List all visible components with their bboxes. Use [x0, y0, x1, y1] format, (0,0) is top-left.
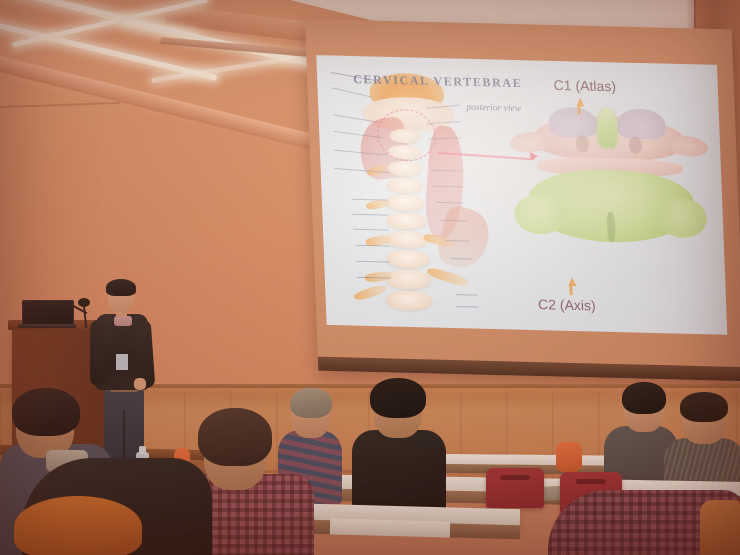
list-item — [352, 378, 446, 506]
laptop-base — [18, 324, 76, 328]
presenter-hair — [106, 279, 136, 296]
attendee-black-top-hair — [370, 378, 426, 418]
paper-on-desk — [330, 518, 450, 537]
presenter-badge — [116, 354, 128, 370]
attendee-hoodie-hair — [622, 382, 666, 414]
water-bottle-cap — [139, 446, 146, 454]
projector-glow — [316, 55, 727, 335]
chair-handle-slot — [500, 475, 530, 480]
projection-screen: CERVICAL VERTEBRAE posterior view C1 (At… — [305, 19, 740, 381]
chair-orange-far — [556, 442, 582, 472]
presenter-leg-separation — [123, 410, 125, 464]
presenter-hand — [134, 378, 146, 390]
attendee-patterned-hair — [680, 392, 728, 422]
chair — [486, 468, 544, 508]
presenter-scarf — [114, 316, 132, 326]
attendee-black-top-body — [352, 430, 446, 516]
bag-foreground — [700, 500, 740, 555]
lecture-hall-photo: CERVICAL VERTEBRAE posterior view C1 (At… — [0, 0, 740, 555]
attendee-front-left-hair — [12, 388, 80, 436]
attendee-red-hair — [14, 496, 142, 555]
presentation-slide: CERVICAL VERTEBRAE posterior view C1 (At… — [316, 55, 727, 335]
list-item — [14, 496, 142, 555]
chair-handle-slot — [576, 479, 606, 484]
presenter-arm-left — [90, 320, 106, 386]
